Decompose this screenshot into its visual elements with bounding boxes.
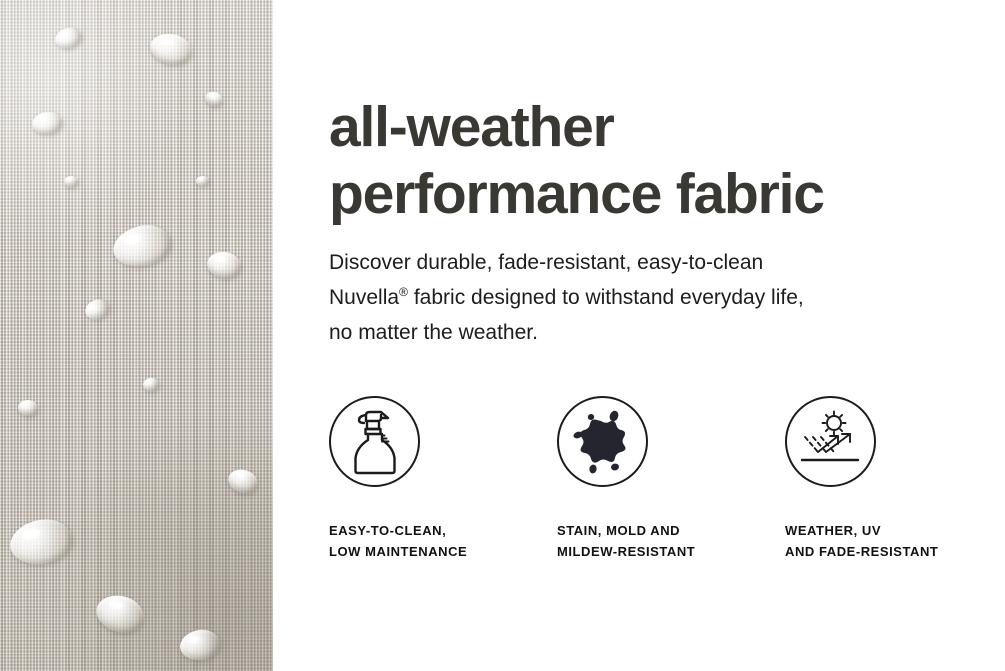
water-droplet: [64, 176, 78, 187]
feature-item-easy-to-clean: EASY-TO-CLEAN, LOW MAINTENANCE: [329, 396, 467, 562]
description-line-1: Discover durable, fade-resistant, easy-t…: [329, 251, 763, 274]
promo-content: all-weather performance fabric Discover …: [329, 0, 1005, 671]
description-line-2: fabric designed to withstand everyday li…: [408, 286, 804, 309]
description-line-3: no matter the weather.: [329, 321, 538, 344]
spray-bottle-icon: [329, 396, 420, 487]
registered-mark: ®: [399, 285, 408, 299]
fabric-lighting-overlay: [0, 0, 273, 671]
feature-item-weather-uv-resistant: WEATHER, UV AND FADE-RESISTANT: [785, 396, 938, 562]
feature-item-stain-resistant: STAIN, MOLD AND MILDEW-RESISTANT: [557, 396, 695, 562]
brand-name: Nuvella: [329, 286, 399, 309]
feature-caption: EASY-TO-CLEAN, LOW MAINTENANCE: [329, 520, 467, 562]
water-droplet: [196, 176, 209, 186]
feature-list: EASY-TO-CLEAN, LOW MAINTENANCE: [329, 396, 1005, 566]
page-title: all-weather performance fabric: [329, 94, 989, 228]
sun-uv-reflect-icon: [785, 396, 876, 487]
promo-banner: all-weather performance fabric Discover …: [0, 0, 1005, 671]
stain-splat-icon: [557, 396, 648, 487]
feature-caption: STAIN, MOLD AND MILDEW-RESISTANT: [557, 520, 695, 562]
promo-description: Discover durable, fade-resistant, easy-t…: [329, 245, 949, 350]
feature-caption: WEATHER, UV AND FADE-RESISTANT: [785, 520, 938, 562]
fabric-photo: [0, 0, 273, 671]
